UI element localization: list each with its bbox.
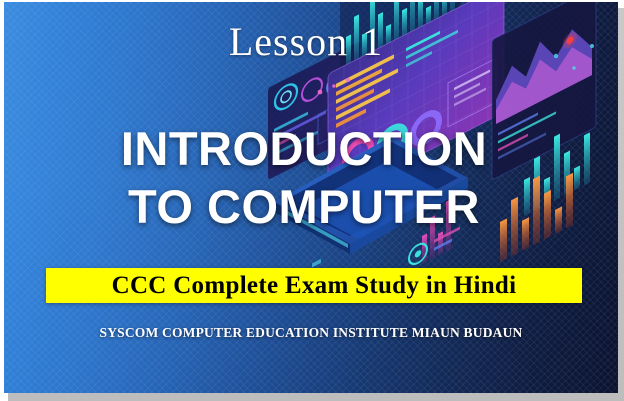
lesson-number: 1 (362, 19, 383, 64)
institute-caption: SYSCOM COMPUTER EDUCATION INSTITUTE MIAU… (4, 324, 618, 342)
highlight-banner: CCC Complete Exam Study in Hindi (46, 268, 582, 303)
title-line-1: INTRODUCTION (121, 122, 487, 175)
presentation-slide: Lesson1 INTRODUCTION TO COMPUTER CCC Com… (4, 2, 618, 393)
lesson-label: Lesson1 (4, 18, 618, 66)
highlight-banner-text: CCC Complete Exam Study in Hindi (112, 272, 517, 300)
lesson-word: Lesson (229, 19, 348, 64)
title-line-2: TO COMPUTER (4, 178, 604, 236)
page-title: INTRODUCTION TO COMPUTER (4, 120, 618, 236)
slide-frame: Lesson1 INTRODUCTION TO COMPUTER CCC Com… (0, 0, 624, 401)
